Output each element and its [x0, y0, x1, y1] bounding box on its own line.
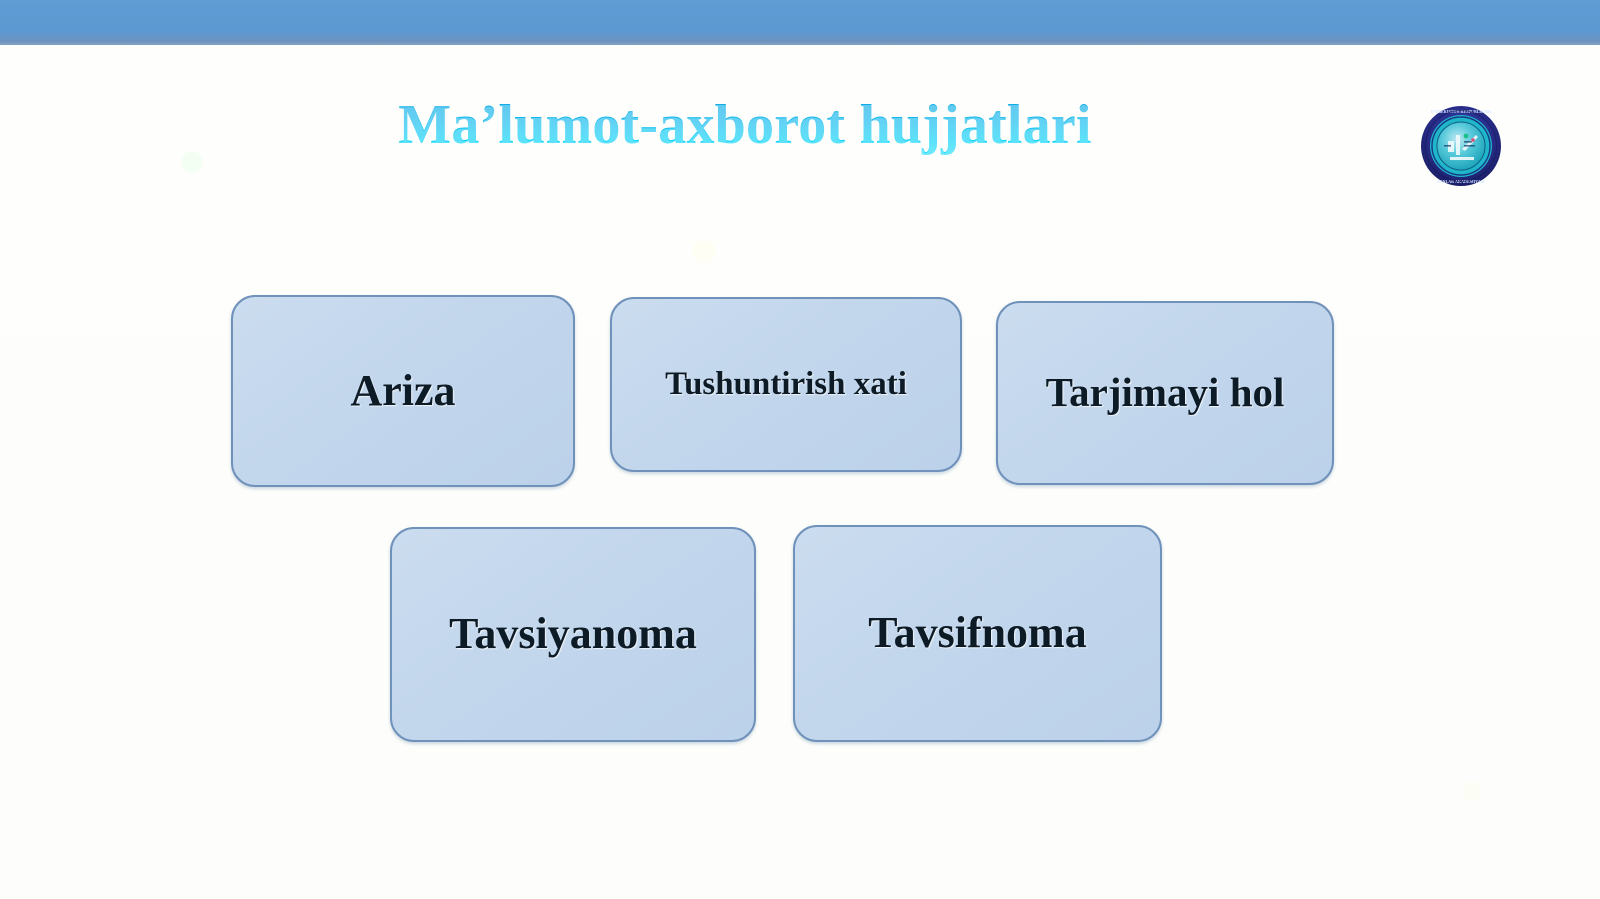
- slide-canvas: Ma’lumot-axborot hujjatlari: [0, 0, 1600, 899]
- concept-box-label: Tavsifnoma: [854, 609, 1100, 657]
- concept-box-label: Tavsiyanoma: [435, 610, 711, 658]
- concept-box-ariza[interactable]: Ariza: [231, 295, 575, 487]
- concept-box-label: Tarjimayi hol: [1032, 370, 1299, 415]
- svg-text:O‘ZBEKISTON RESPUBLIKASI: O‘ZBEKISTON RESPUBLIKASI: [1431, 109, 1492, 114]
- concept-box-tavsiyanoma[interactable]: Tavsiyanoma: [390, 527, 756, 742]
- concept-box-label: Tushuntirish xati: [651, 366, 921, 402]
- concept-box-tavsifnoma[interactable]: Tavsifnoma: [793, 525, 1162, 742]
- emblem-icon: O‘ZBEKISTON RESPUBLIKASI FANLAR AKADEMIY…: [1420, 105, 1502, 187]
- concept-box-label: Ariza: [336, 367, 469, 415]
- academy-emblem-logo: O‘ZBEKISTON RESPUBLIKASI FANLAR AKADEMIY…: [1420, 105, 1502, 187]
- top-decorative-band: [0, 0, 1600, 45]
- page-title: Ma’lumot-axborot hujjatlari: [0, 96, 1490, 155]
- concept-box-tushuntirish-xati[interactable]: Tushuntirish xati: [610, 297, 962, 472]
- concept-box-tarjimayi-hol[interactable]: Tarjimayi hol: [996, 301, 1334, 485]
